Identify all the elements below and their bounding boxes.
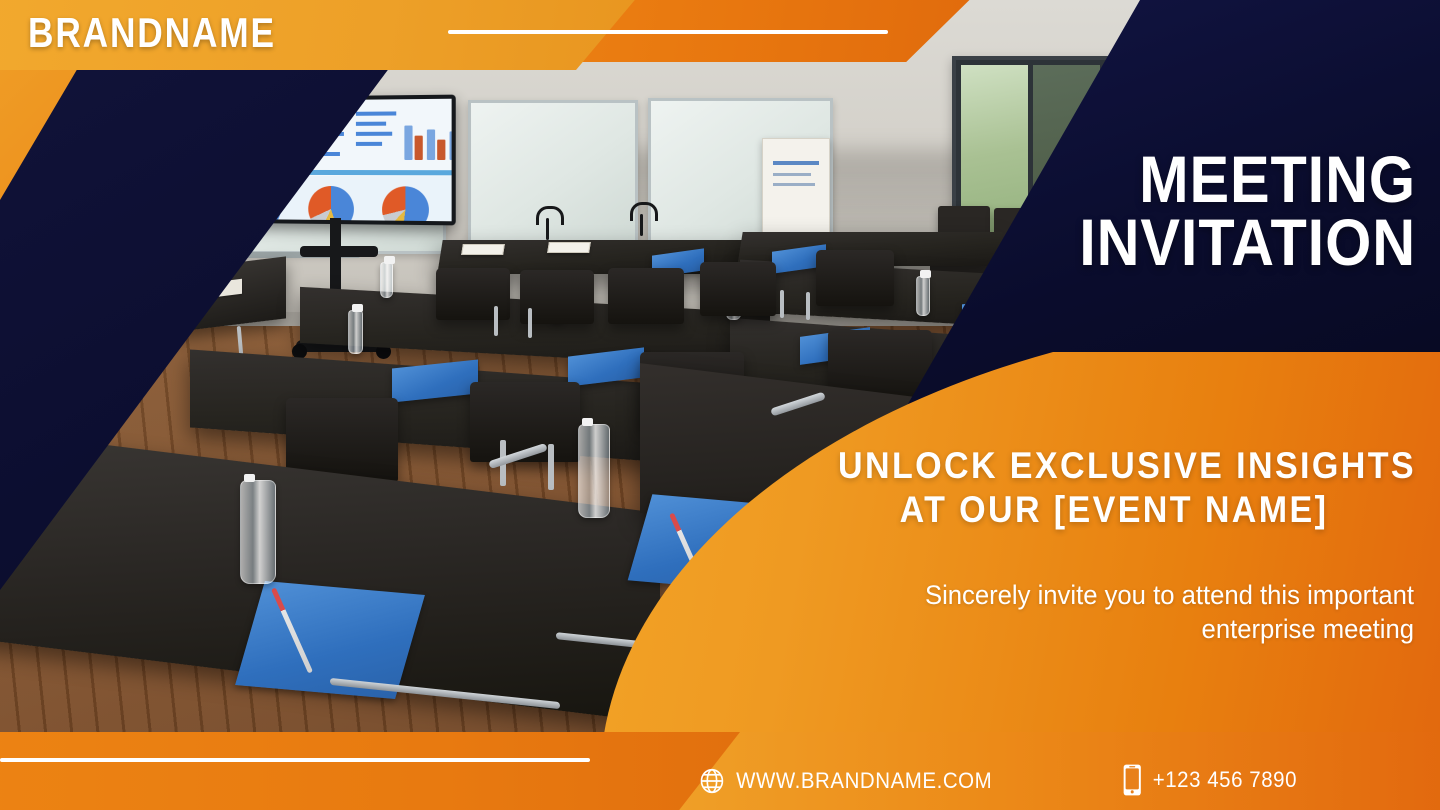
website-label: WWW.BRANDNAME.COM (736, 768, 992, 794)
title-line-2: INVITATION (912, 211, 1416, 274)
microphone (640, 214, 643, 236)
office-chair (700, 262, 776, 316)
page-title: MEETING INVITATION (856, 148, 1416, 275)
flipchart (762, 138, 830, 236)
water-bottle (240, 480, 276, 584)
footer-divider-rule (0, 758, 590, 762)
tagline-line-2: AT OUR [EVENT NAME] (838, 488, 1390, 532)
title-line-1: MEETING (912, 148, 1416, 211)
meeting-invitation-poster: BRANDNAME MEETING INVITATION UNLOCK EXCL… (0, 0, 1440, 810)
mobile-phone-icon (1122, 764, 1142, 796)
website-contact[interactable]: WWW.BRANDNAME.COM (698, 766, 992, 796)
globe-icon (698, 766, 726, 796)
pie-chart (308, 185, 354, 221)
tagline: UNLOCK EXCLUSIVE INSIGHTS AT OUR [EVENT … (814, 444, 1414, 531)
phone-contact[interactable]: +123 456 7890 (1122, 764, 1297, 796)
tagline-line-1: UNLOCK EXCLUSIVE INSIGHTS (838, 444, 1390, 488)
tv-stand-tray (300, 246, 378, 257)
pie-chart (382, 186, 429, 221)
body-text: Sincerely invite you to attend this impo… (835, 578, 1415, 646)
footer-orange-band (0, 732, 740, 810)
office-chair (436, 268, 510, 320)
phone-label: +123 456 7890 (1153, 767, 1297, 793)
microphone (546, 218, 549, 240)
office-chair (608, 268, 684, 324)
nameplate (461, 244, 505, 255)
water-bottle (578, 424, 610, 518)
nameplate (547, 242, 591, 253)
whiteboard (468, 100, 638, 250)
brand-logo-text: BRANDNAME (28, 9, 276, 57)
water-bottle (916, 276, 930, 316)
water-bottle (348, 310, 363, 354)
water-bottle (380, 262, 393, 298)
header-divider-rule (448, 30, 888, 34)
